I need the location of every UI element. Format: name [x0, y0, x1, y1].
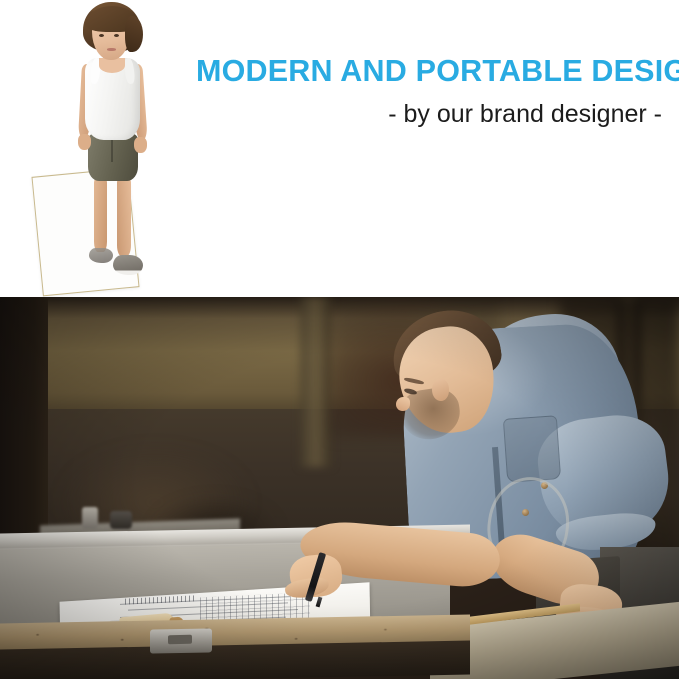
subheadline-text: - by our brand designer - [196, 87, 662, 127]
craftsman-ear [432, 379, 449, 401]
boy-hand-right [134, 137, 147, 153]
boy-shoe-right [113, 255, 143, 275]
boy-leg-right [117, 178, 131, 256]
boy-leg-left [94, 178, 107, 252]
boy-eye-left [99, 34, 104, 37]
craftsman-shirt-pocket [503, 415, 561, 483]
workshop-column [300, 297, 332, 467]
saw-rear-knob [82, 507, 98, 529]
product-banner-page: MODERN AND PORTABLE DESIGN - by our bran… [0, 0, 679, 679]
boy-shorts [88, 133, 138, 181]
craftsman-nose [396, 397, 410, 411]
top-white-panel: MODERN AND PORTABLE DESIGN - by our bran… [0, 0, 679, 297]
boy-hand-left [78, 134, 91, 150]
saw-rear-knob-2 [110, 511, 132, 529]
boy-eye-right [114, 34, 119, 37]
headline-block: MODERN AND PORTABLE DESIGN - by our bran… [196, 55, 662, 127]
saw-clamp-slot [168, 635, 192, 644]
workshop-photo [0, 297, 679, 679]
boy-mouth [107, 48, 116, 51]
headline-text: MODERN AND PORTABLE DESIGN [196, 55, 662, 87]
boy-shoe-left [89, 248, 113, 263]
boy-hair-side [125, 16, 143, 52]
boy-holding-board-figure [35, 0, 190, 290]
boy-tank-neckline [99, 58, 125, 73]
